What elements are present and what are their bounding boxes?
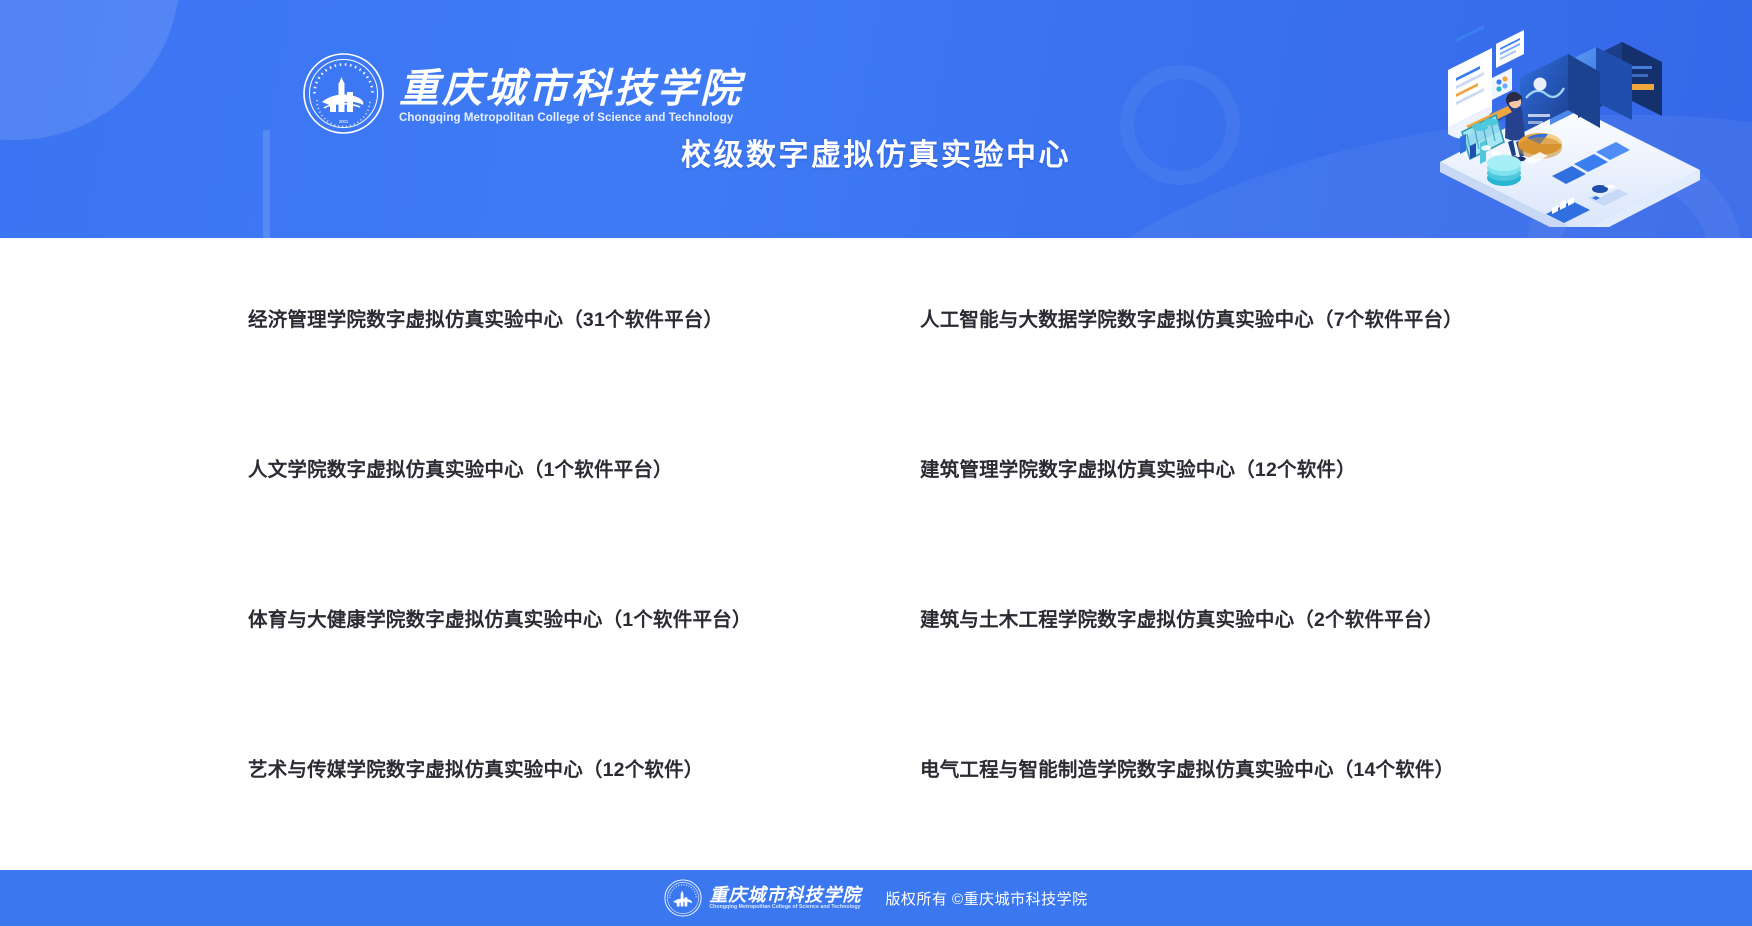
svg-text:2001: 2001 — [339, 119, 349, 124]
main-content: 经济管理学院数字虚拟仿真实验中心（31个软件平台） 人工智能与大数据学院数字虚拟… — [0, 238, 1752, 870]
header-logo[interactable]: 2001 重庆城市科技学院 Chongqing Metropolitan Col… — [302, 52, 743, 135]
page-footer: 重庆城市科技学院 Chongqing Metropolitan College … — [0, 870, 1752, 926]
footer-university-name-cn: 重庆城市科技学院 — [709, 886, 861, 904]
page-header: 2001 重庆城市科技学院 Chongqing Metropolitan Col… — [0, 0, 1752, 238]
center-link-economics-management[interactable]: 经济管理学院数字虚拟仿真实验中心（31个软件平台） — [248, 262, 920, 335]
isometric-data-dashboard-illustration — [1400, 22, 1740, 227]
university-seal-icon — [664, 879, 702, 917]
header-logo-wordmark: 重庆城市科技学院 Chongqing Metropolitan College … — [399, 64, 743, 124]
center-link-humanities[interactable]: 人文学院数字虚拟仿真实验中心（1个软件平台） — [248, 412, 920, 485]
centers-grid: 经济管理学院数字虚拟仿真实验中心（31个软件平台） 人工智能与大数据学院数字虚拟… — [248, 262, 1508, 862]
decorative-circle-top-left — [0, 0, 180, 140]
footer-university-name-en: Chongqing Metropolitan College of Scienc… — [709, 905, 861, 910]
university-name-cn: 重庆城市科技学院 — [399, 68, 743, 110]
university-seal-icon: 2001 — [302, 52, 385, 135]
footer-logo-wordmark: 重庆城市科技学院 Chongqing Metropolitan College … — [709, 886, 861, 910]
center-link-art-media[interactable]: 艺术与传媒学院数字虚拟仿真实验中心（12个软件） — [248, 712, 920, 785]
page-root: 2001 重庆城市科技学院 Chongqing Metropolitan Col… — [0, 0, 1752, 926]
center-link-construction-management[interactable]: 建筑管理学院数字虚拟仿真实验中心（12个软件） — [920, 412, 1508, 485]
center-link-architecture-civil-engineering[interactable]: 建筑与土木工程学院数字虚拟仿真实验中心（2个软件平台） — [920, 562, 1508, 635]
center-link-ai-bigdata[interactable]: 人工智能与大数据学院数字虚拟仿真实验中心（7个软件平台） — [920, 262, 1508, 335]
copyright-text: 版权所有 ©重庆城市科技学院 — [885, 888, 1087, 909]
university-name-en: Chongqing Metropolitan College of Scienc… — [399, 112, 743, 124]
footer-logo[interactable]: 重庆城市科技学院 Chongqing Metropolitan College … — [664, 879, 861, 917]
center-link-sports-health[interactable]: 体育与大健康学院数字虚拟仿真实验中心（1个软件平台） — [248, 562, 920, 635]
center-link-electrical-intelligent-manufacturing[interactable]: 电气工程与智能制造学院数字虚拟仿真实验中心（14个软件） — [920, 712, 1508, 785]
